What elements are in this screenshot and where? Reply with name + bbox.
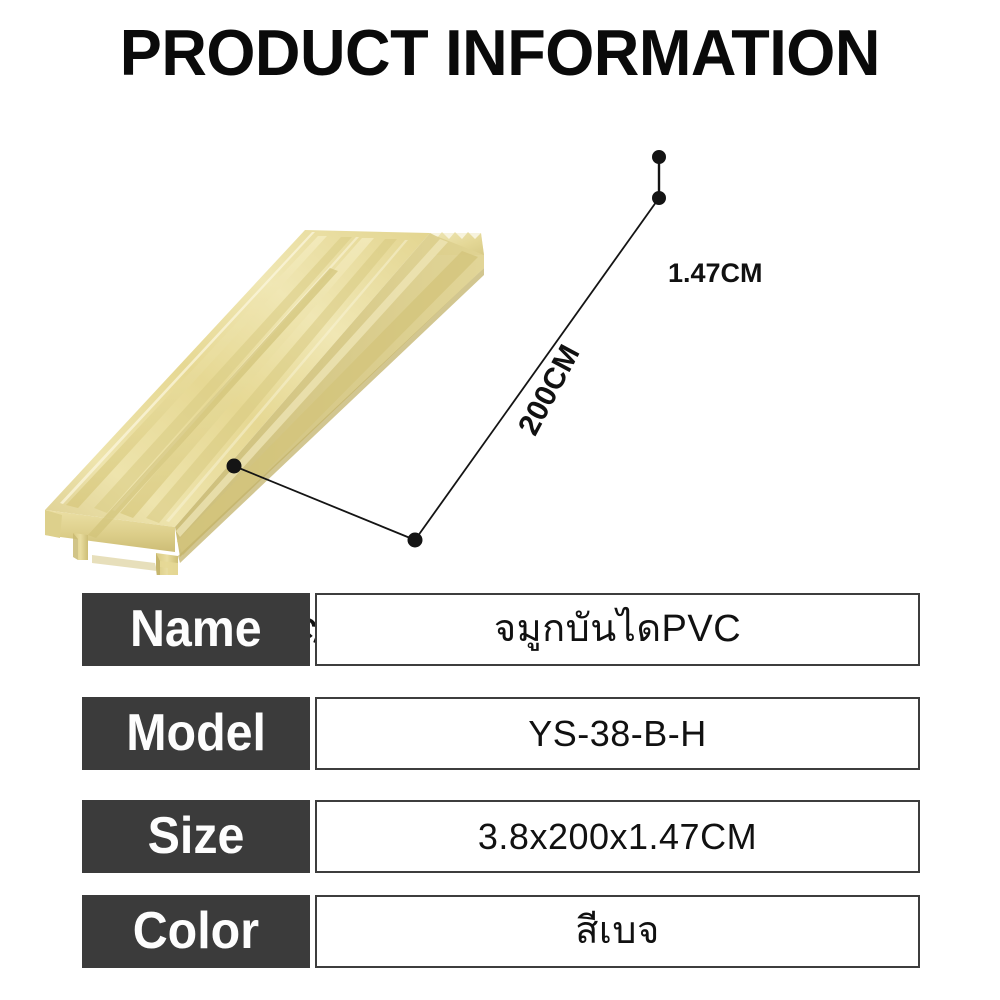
dim-line-width bbox=[234, 466, 415, 540]
table-row: Color สีเบจ bbox=[82, 895, 920, 968]
spec-value-color: สีเบจ bbox=[315, 895, 920, 968]
dim-dot-width-left bbox=[227, 459, 241, 473]
page-title: PRODUCT INFORMATION bbox=[120, 18, 880, 88]
nosing-body bbox=[45, 230, 484, 575]
title-bar: PRODUCT INFORMATION bbox=[0, 18, 1000, 88]
spec-label-model-text: Model bbox=[126, 697, 266, 770]
dimension-label-height: 1.47CM bbox=[668, 258, 763, 289]
dim-dot-height-top bbox=[653, 151, 666, 164]
spec-label-color: Color bbox=[82, 895, 310, 968]
spec-value-name: จมูกบันไดPVC bbox=[315, 593, 920, 666]
spec-label-model: Model bbox=[82, 697, 310, 770]
spec-label-name: Name bbox=[82, 593, 310, 666]
spec-value-size: 3.8x200x1.47CM bbox=[315, 800, 920, 873]
spec-label-size: Size bbox=[82, 800, 310, 873]
spec-label-name-text: Name bbox=[130, 593, 262, 666]
spec-label-color-text: Color bbox=[133, 895, 259, 968]
table-row: Size 3.8x200x1.47CM bbox=[82, 800, 920, 873]
spec-label-size-text: Size bbox=[148, 800, 245, 873]
table-row: Model YS-38-B-H bbox=[82, 697, 920, 770]
spec-table: Name จมูกบันไดPVC Model YS-38-B-H Size 3… bbox=[82, 593, 920, 965]
table-row: Name จมูกบันไดPVC bbox=[82, 593, 920, 666]
spec-value-model: YS-38-B-H bbox=[315, 697, 920, 770]
pvc-stair-nosing-drawing bbox=[0, 105, 1000, 575]
product-illustration: 1.47CM 200CM 3.8CM bbox=[0, 105, 1000, 575]
